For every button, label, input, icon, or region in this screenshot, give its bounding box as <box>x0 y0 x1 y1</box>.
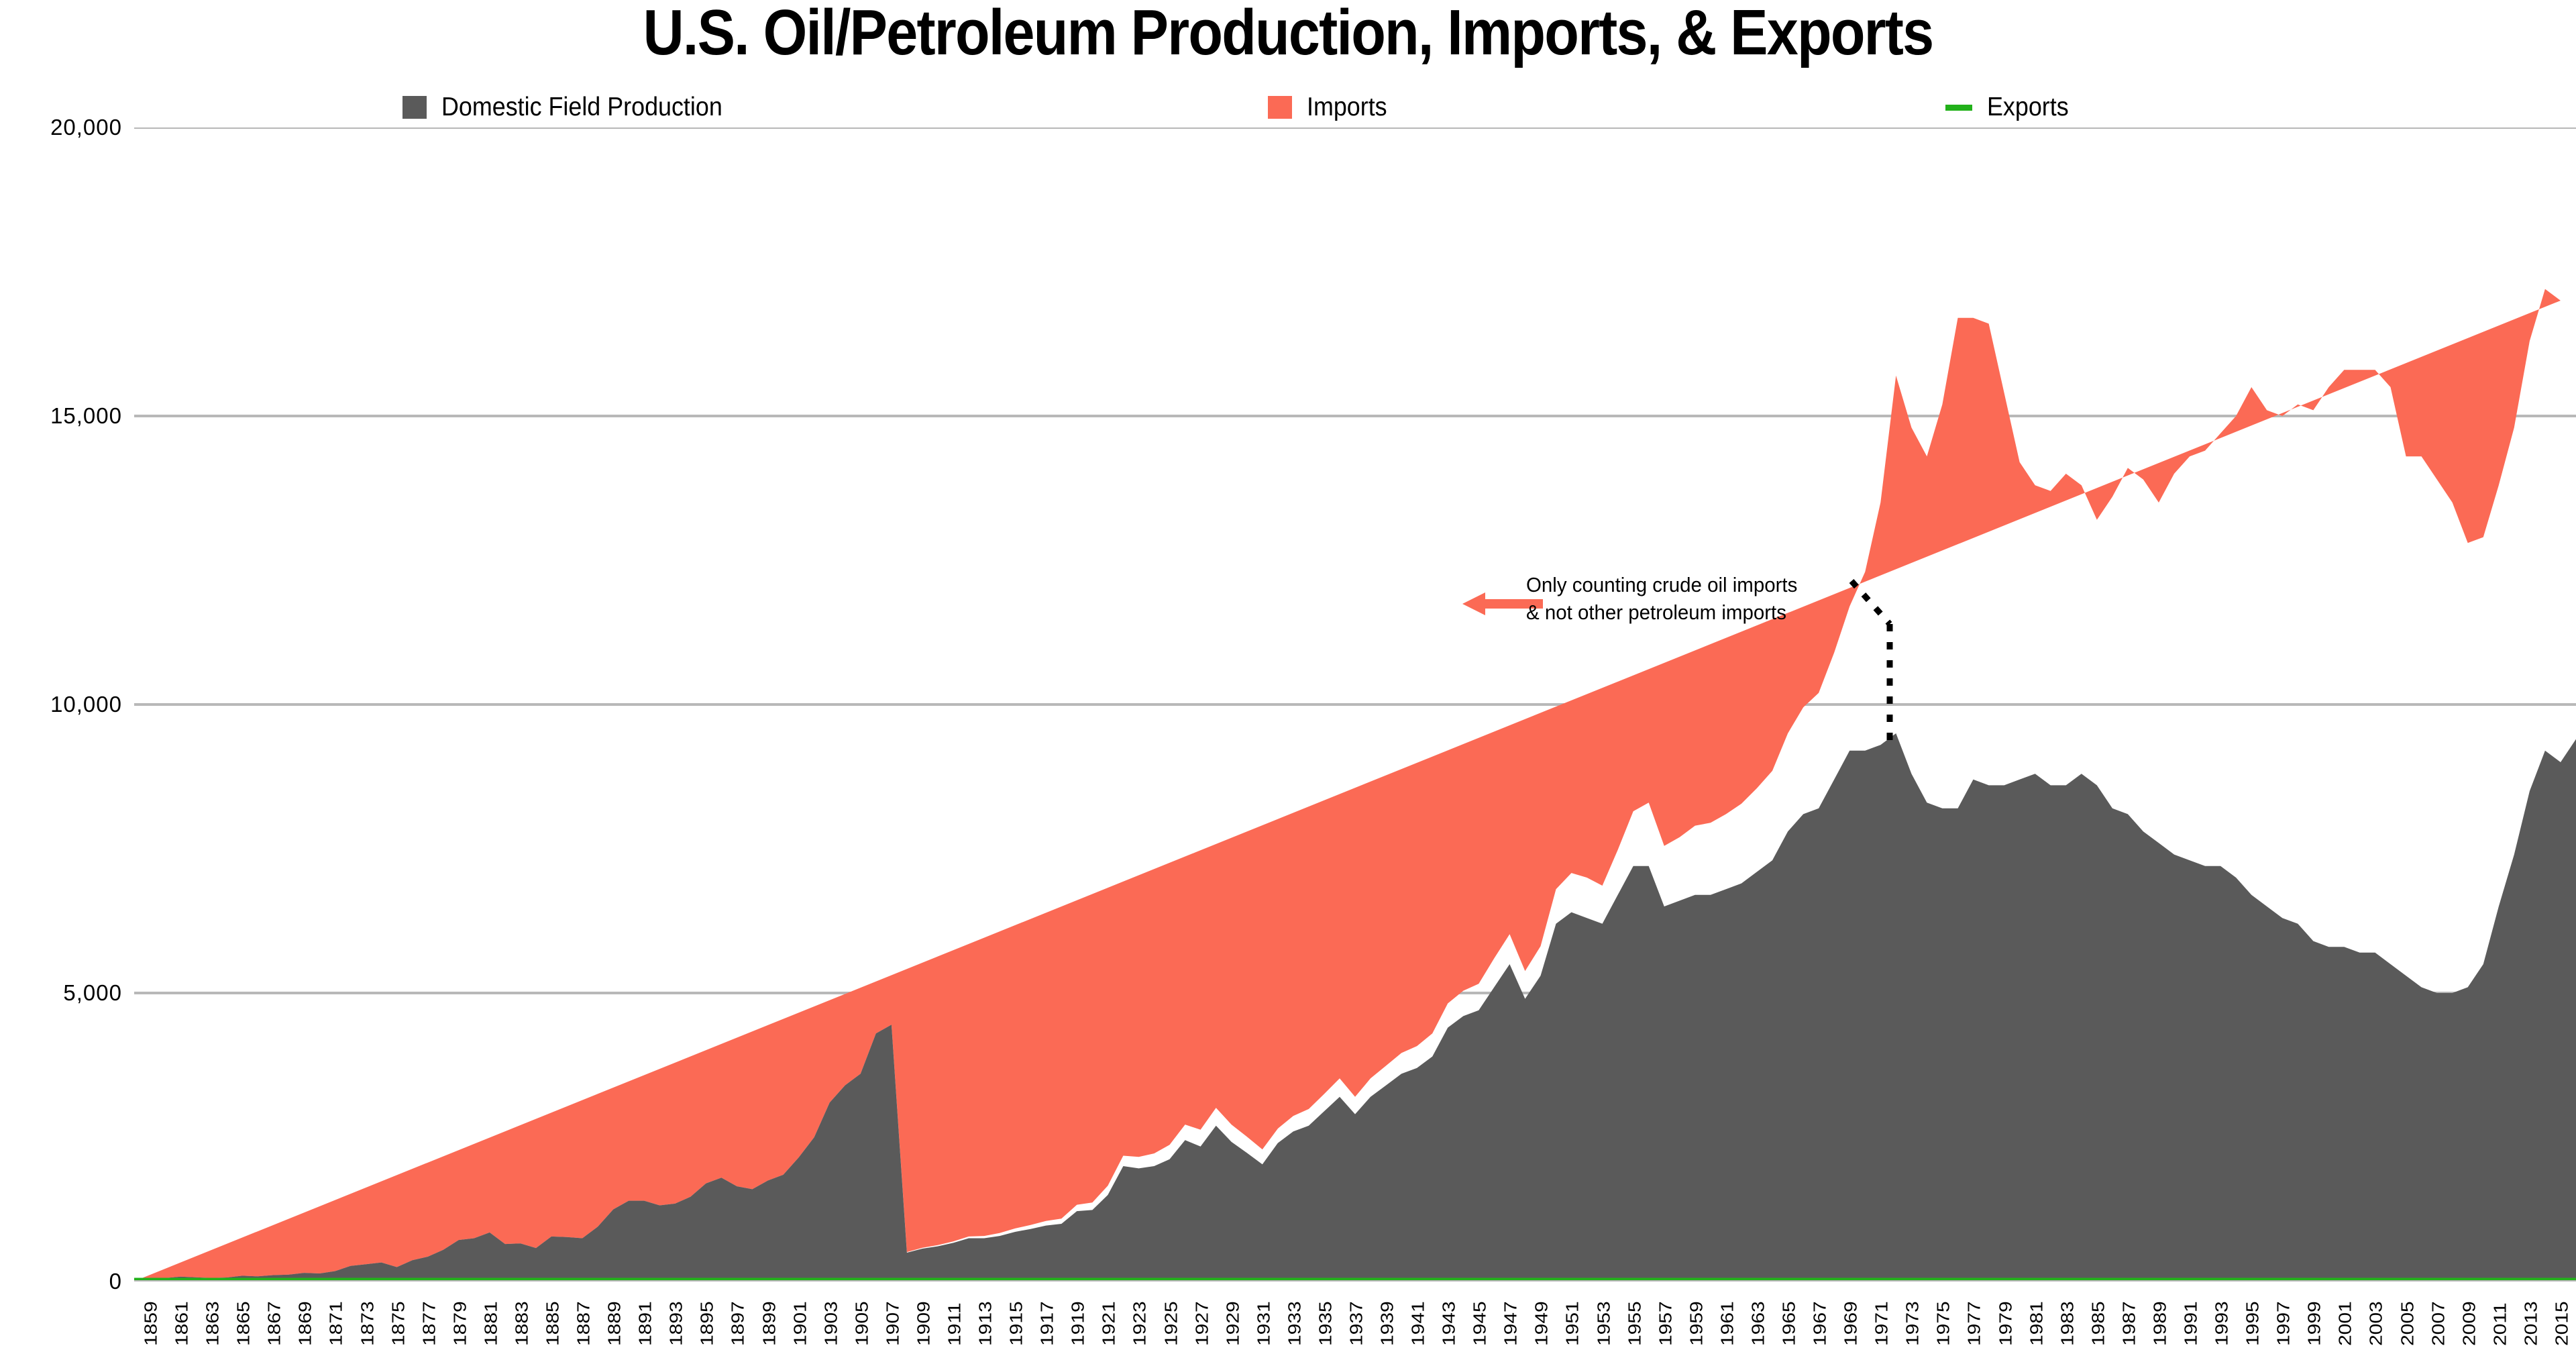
legend-swatch-imports-icon <box>1268 96 1292 119</box>
x-axis-tick-label: 1973 <box>1903 1301 1923 1346</box>
x-axis-tick-label: 2007 <box>2429 1301 2449 1346</box>
x-axis-tick-label: 1987 <box>2120 1301 2139 1346</box>
x-axis-tick-label: 1947 <box>1501 1301 1521 1346</box>
x-axis-tick-label: 1955 <box>1625 1301 1645 1346</box>
legend-swatch-domestic-icon <box>402 96 427 119</box>
x-axis-tick-label: 1863 <box>203 1301 223 1346</box>
x-axis-tick-label: 1965 <box>1780 1301 1799 1346</box>
annotation-line-2: & not other petroleum imports <box>1526 599 1883 627</box>
x-axis-tick-label: 1887 <box>574 1301 594 1346</box>
x-axis-tick-label: 1941 <box>1409 1301 1428 1346</box>
x-axis-tick-label: 1895 <box>698 1301 717 1346</box>
x-axis-tick-label: 1893 <box>667 1301 686 1346</box>
x-axis-tick-label: 1869 <box>296 1301 315 1346</box>
x-axis-tick-label: 2011 <box>2491 1302 2510 1346</box>
x-axis-tick-label: 1967 <box>1811 1301 1830 1346</box>
x-axis-tick-label: 1903 <box>822 1301 841 1346</box>
x-axis-tick-label: 1939 <box>1378 1301 1397 1346</box>
y-axis-tick-label: 20,000 <box>50 115 122 140</box>
x-axis-tick-label: 1949 <box>1532 1301 1552 1346</box>
y-axis-tick-label: 10,000 <box>50 692 122 717</box>
x-axis-tick-label: 1961 <box>1718 1301 1737 1346</box>
x-axis-tick-label: 1999 <box>2305 1301 2324 1346</box>
x-axis-tick-label: 1905 <box>853 1301 872 1346</box>
page-title: U.S. Oil/Petroleum Production, Imports, … <box>154 0 2421 70</box>
area-chart-svg <box>134 127 2576 1282</box>
x-axis-tick-label: 1885 <box>543 1301 563 1346</box>
x-axis-tick-label: 1919 <box>1069 1301 1088 1346</box>
x-axis-tick-label: 2013 <box>2522 1301 2541 1346</box>
legend-item-domestic-field-production[interactable]: Domestic Field Production <box>402 94 747 121</box>
x-axis-tick-label: 1981 <box>2027 1301 2047 1346</box>
x-axis-tick-label: 1881 <box>482 1301 501 1346</box>
x-axis-tick-label: 2015 <box>2553 1301 2572 1346</box>
x-axis-tick-label: 1997 <box>2274 1301 2294 1346</box>
x-axis-tick-label: 1875 <box>389 1301 409 1346</box>
x-axis-tick-label: 1951 <box>1563 1301 1582 1346</box>
x-axis-tick-label: 1867 <box>265 1301 284 1346</box>
x-axis-tick-label: 1873 <box>358 1301 378 1346</box>
chart-annotation: Only counting crude oil imports & not ot… <box>1526 572 1883 627</box>
x-axis-tick-label: 1917 <box>1038 1301 1057 1346</box>
x-axis-tick-label: 1923 <box>1130 1301 1150 1346</box>
x-axis-tick-label: 1991 <box>2182 1301 2201 1346</box>
x-axis-tick-label: 1865 <box>234 1301 254 1346</box>
x-axis-tick-label: 1907 <box>883 1301 903 1346</box>
x-axis-tick-label: 1989 <box>2151 1301 2170 1346</box>
x-axis-tick-label: 1983 <box>2058 1301 2078 1346</box>
legend-item-imports[interactable]: Imports <box>1268 94 1394 121</box>
x-axis-tick-label: 1929 <box>1224 1301 1243 1346</box>
x-axis-tick-label: 2003 <box>2367 1301 2386 1346</box>
x-axis-tick-label: 1933 <box>1285 1301 1305 1346</box>
x-axis-tick-label: 2001 <box>2336 1301 2355 1346</box>
x-axis-tick-label: 1977 <box>1965 1301 1984 1346</box>
x-axis-tick-label: 1889 <box>605 1301 625 1346</box>
x-axis-tick-label: 1879 <box>451 1301 470 1346</box>
x-axis-tick-label: 1871 <box>327 1301 346 1346</box>
x-axis-tick-label: 1861 <box>172 1301 192 1346</box>
x-axis-tick-label: 1925 <box>1162 1301 1181 1346</box>
legend-item-exports[interactable]: Exports <box>1945 94 2076 121</box>
x-axis-tick-label: 1897 <box>729 1301 748 1346</box>
x-axis-tick-label: 1909 <box>914 1301 934 1346</box>
x-axis-tick-label: 1937 <box>1347 1301 1366 1346</box>
x-axis-tick-label: 1985 <box>2089 1301 2108 1346</box>
x-axis-tick-label: 1935 <box>1316 1301 1336 1346</box>
x-axis-tick-label: 1891 <box>636 1301 655 1346</box>
chart-legend: Domestic Field Production Imports Export… <box>402 94 2214 121</box>
x-axis-tick-label: 1901 <box>791 1301 810 1346</box>
x-axis-tick-label: 1915 <box>1007 1301 1026 1346</box>
x-axis-tick-label: 1975 <box>1934 1301 1953 1346</box>
x-axis-tick-label: 1969 <box>1841 1301 1861 1346</box>
x-axis-tick-label: 1979 <box>1996 1301 2016 1346</box>
x-axis-tick-label: 2009 <box>2460 1301 2479 1346</box>
x-axis-tick-label: 1913 <box>976 1301 996 1346</box>
legend-label-domestic: Domestic Field Production <box>441 93 722 122</box>
x-axis-tick-label: 2005 <box>2398 1301 2418 1346</box>
x-axis-tick-label: 1859 <box>142 1301 161 1346</box>
x-axis-tick-label: 1911 <box>945 1302 965 1346</box>
x-axis-tick-label: 1927 <box>1193 1301 1212 1346</box>
annotation-line-1: Only counting crude oil imports <box>1526 572 1883 599</box>
x-axis-tick-label: 1953 <box>1595 1301 1614 1346</box>
x-axis-tick-label: 1993 <box>2212 1301 2232 1346</box>
legend-swatch-exports-icon <box>1945 105 1972 111</box>
x-axis-tick-label: 1883 <box>513 1301 532 1346</box>
x-axis-tick-label: 1957 <box>1656 1301 1676 1346</box>
x-axis-tick-label: 1899 <box>760 1301 780 1346</box>
plot-area: 05,00010,00015,00020,000 <box>134 127 2576 1282</box>
x-axis-tick-label: 1971 <box>1872 1301 1892 1346</box>
y-axis-tick-label: 0 <box>109 1269 122 1294</box>
x-axis-tick-label: 1931 <box>1254 1301 1274 1346</box>
x-axis-tick-label: 1877 <box>420 1301 439 1346</box>
y-axis-tick-label: 15,000 <box>50 403 122 429</box>
y-axis-tick-label: 5,000 <box>63 980 122 1006</box>
x-axis-tick-labels: 1859186118631865186718691871187318751877… <box>134 1282 2576 1358</box>
x-axis-tick-label: 1945 <box>1470 1301 1490 1346</box>
x-axis-tick-label: 1959 <box>1687 1301 1707 1346</box>
x-axis-tick-label: 1995 <box>2243 1301 2263 1346</box>
legend-label-imports: Imports <box>1307 93 1387 122</box>
x-axis-tick-label: 1943 <box>1440 1301 1459 1346</box>
x-axis-tick-label: 1921 <box>1099 1301 1119 1346</box>
x-axis-tick-label: 1963 <box>1749 1301 1768 1346</box>
legend-label-exports: Exports <box>1987 93 2069 122</box>
